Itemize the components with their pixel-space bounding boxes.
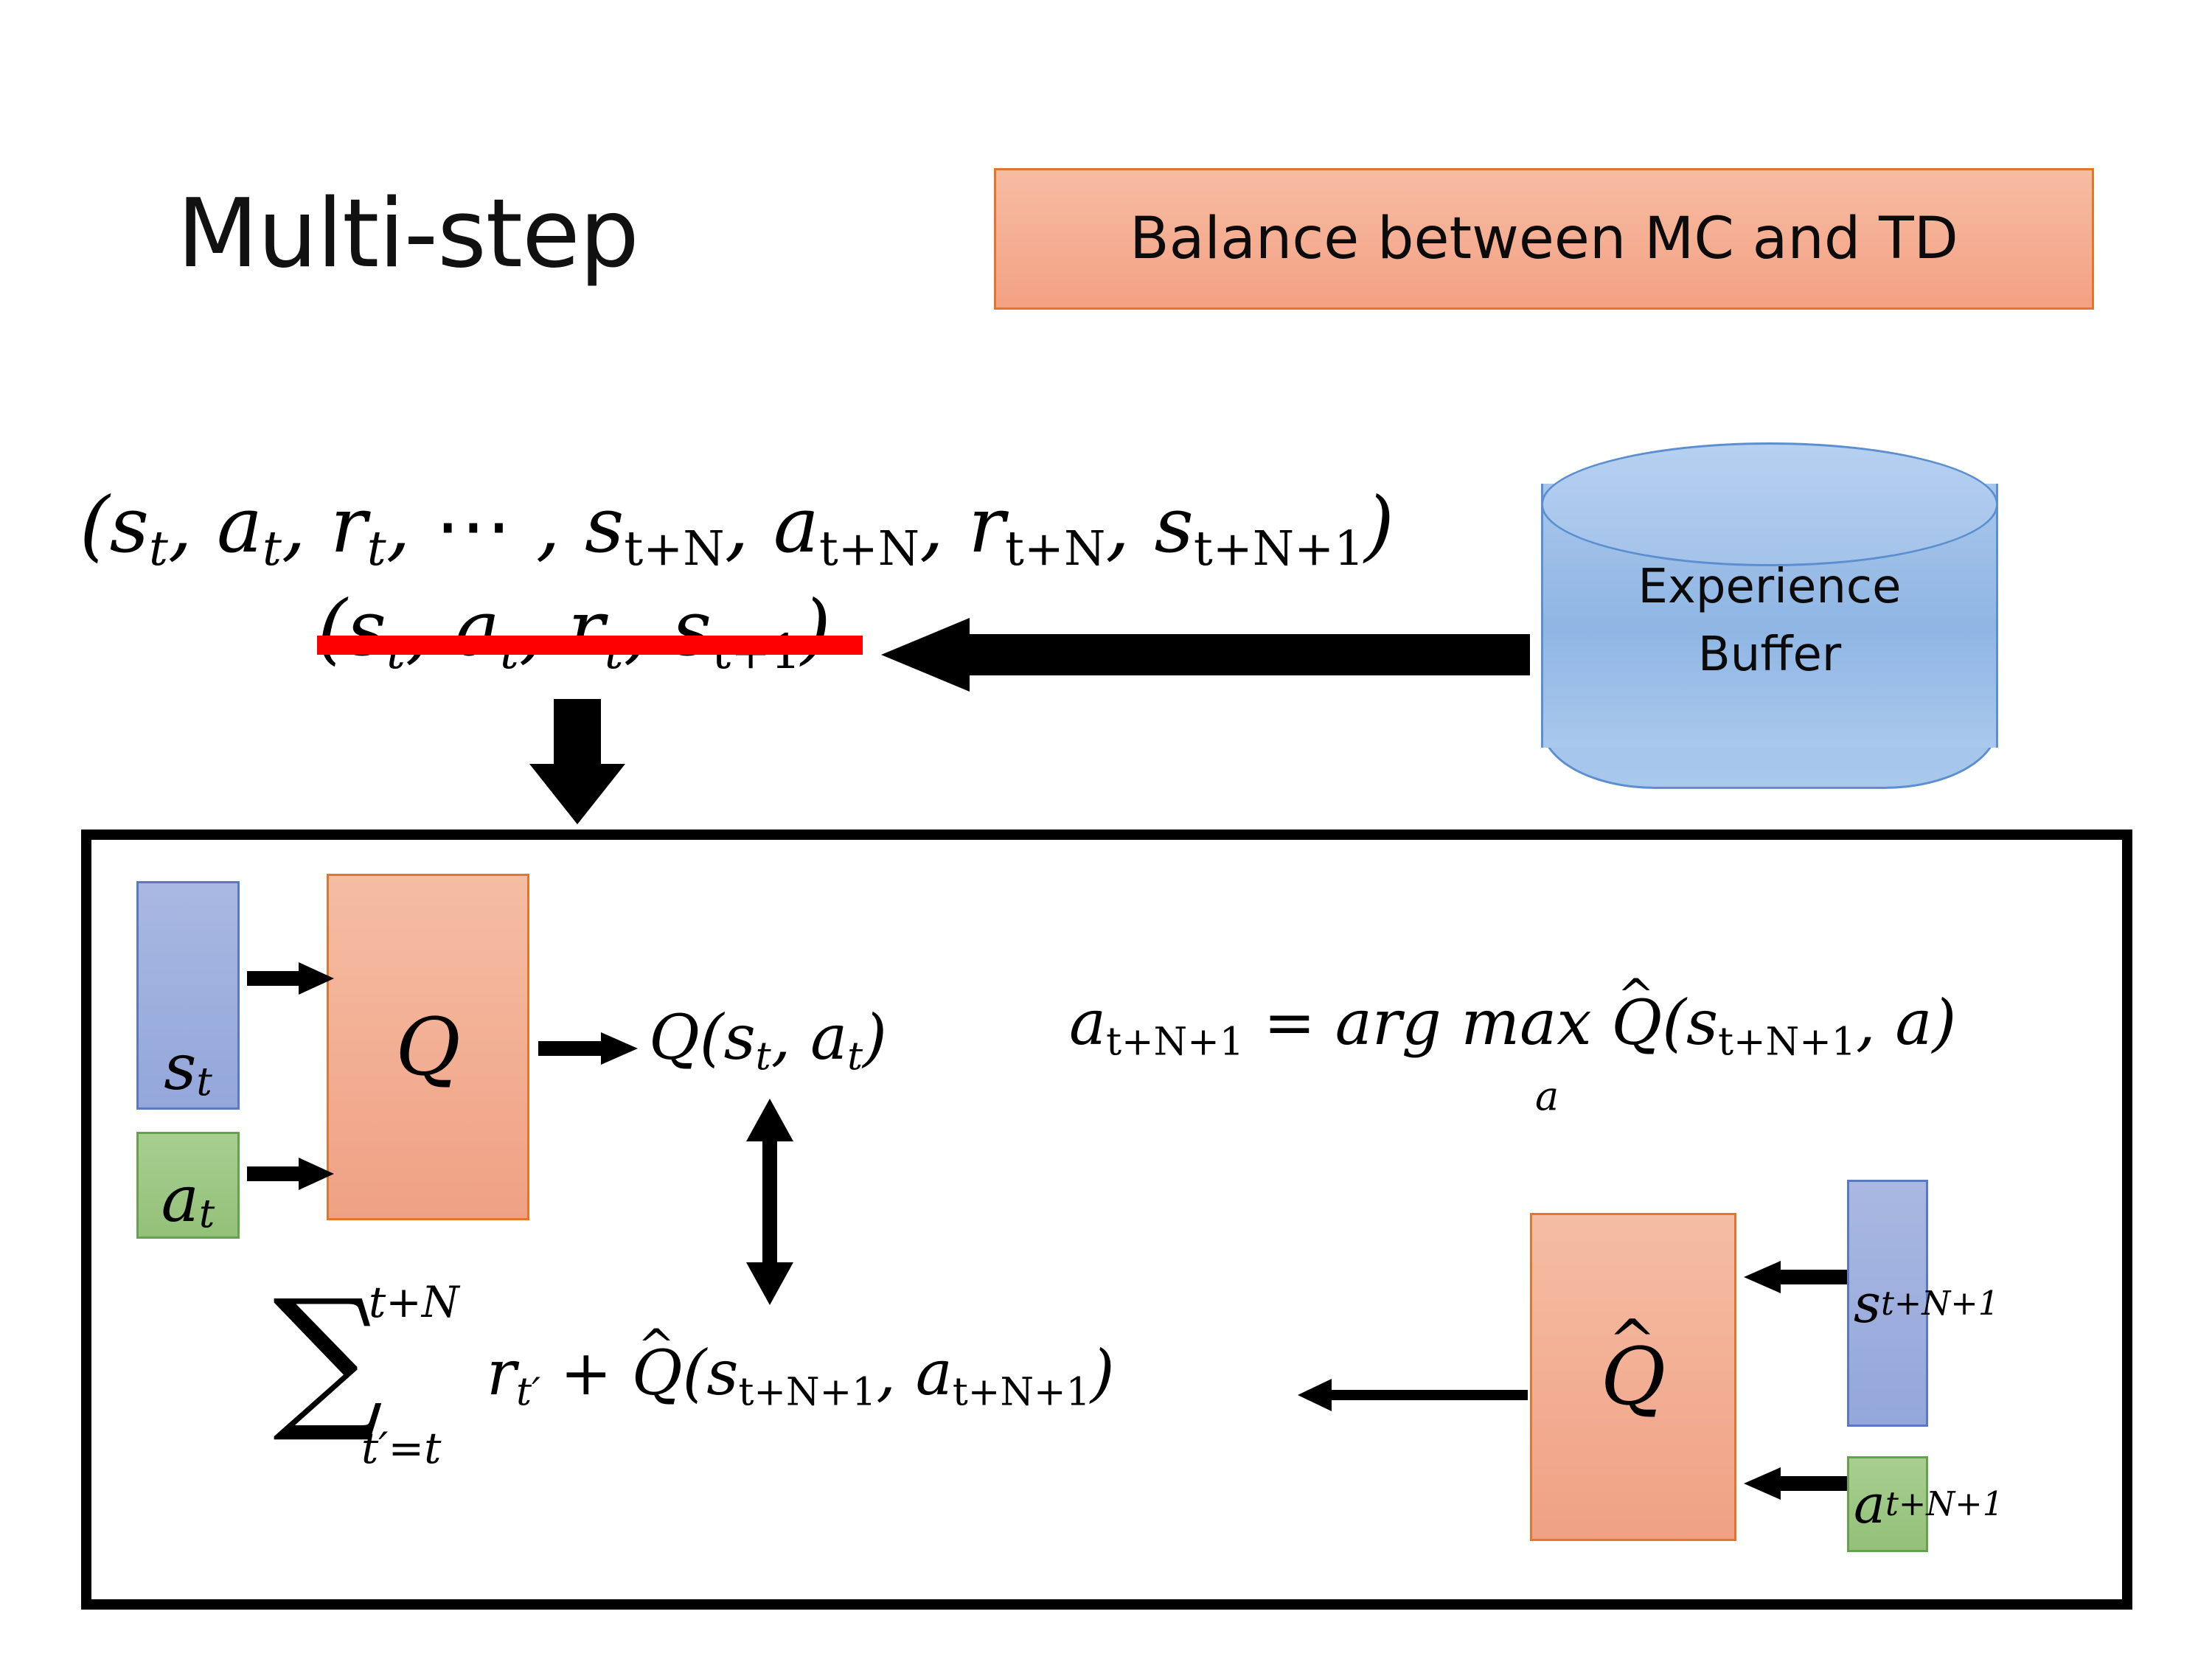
buffer-label-line2: Buffer <box>1541 621 1998 689</box>
single-step-transition-tuple-struck: (st, at, rt, st+1) <box>317 590 831 693</box>
action-to-q-arrow-icon <box>247 1158 334 1190</box>
multi-step-transition-tuple: (st, at, rt, ⋯ , st+N, at+N, rt+N, st+N+… <box>80 487 1394 574</box>
buffer-to-tuple-arrow-icon <box>881 618 1530 692</box>
page-title: Multi-step <box>177 175 811 293</box>
banner-label: Balance between MC and TD <box>996 170 2092 307</box>
next-state-to-qhat-arrow-icon <box>1744 1261 1847 1293</box>
next-action-subscript: t+N+1 <box>1885 1485 2003 1523</box>
next-state-symbol: s <box>1854 1273 1881 1335</box>
online-q-network-block: Q <box>327 874 529 1220</box>
banner-balance-mc-td: Balance between MC and TD <box>994 168 2094 310</box>
argmax-subscript-a: a <box>1535 1073 1559 1119</box>
next-state-input-label: st+N+1 <box>1849 1182 1926 1425</box>
online-q-network-label: Q <box>329 876 527 1218</box>
buffer-label-line1: Experience <box>1541 553 1998 621</box>
summation-upper-limit: t+N <box>369 1277 459 1327</box>
action-subscript: t <box>199 1191 215 1237</box>
target-q-network-label: Q^ <box>1532 1215 1734 1539</box>
tuple-to-box-down-arrow-icon <box>529 699 625 824</box>
loss-double-arrow-icon <box>746 1099 793 1305</box>
experience-buffer-cylinder: Experience Buffer <box>1541 442 1998 789</box>
state-input-block: st <box>136 881 240 1110</box>
state-to-q-arrow-icon <box>247 962 334 995</box>
next-action-to-qhat-arrow-icon <box>1744 1467 1847 1500</box>
next-state-input-block: st+N+1 <box>1847 1180 1928 1427</box>
cylinder-top-ellipse <box>1541 442 1998 566</box>
next-state-subscript: t+N+1 <box>1881 1284 1999 1323</box>
state-symbol: s <box>164 1031 196 1105</box>
next-action-input-block: at+N+1 <box>1847 1456 1928 1552</box>
q-value-output-expression: Q(st, at) <box>649 1006 887 1077</box>
target-q-network-block: Q^ <box>1530 1213 1736 1541</box>
action-symbol: a <box>161 1163 199 1237</box>
state-subscript: t <box>196 1059 212 1105</box>
red-strikethrough-line <box>317 636 863 655</box>
qhat-to-target-arrow-icon <box>1298 1379 1528 1411</box>
next-action-input-label: at+N+1 <box>1849 1458 1926 1550</box>
summation-lower-limit: t′=t <box>361 1423 441 1473</box>
td-target-expression: rt′ + Q^(st+N+1, at+N+1) <box>487 1342 1115 1412</box>
next-action-symbol: a <box>1854 1473 1885 1535</box>
action-input-label: at <box>139 1134 237 1237</box>
q-to-output-arrow-icon <box>538 1032 638 1065</box>
buffer-label: Experience Buffer <box>1541 553 1998 689</box>
state-input-label: st <box>139 883 237 1107</box>
argmax-action-equation: at+N+1 = arg max Q^(st+N+1, a) <box>1069 992 1956 1062</box>
summation-symbol: ∑ <box>273 1287 383 1426</box>
action-input-block: at <box>136 1132 240 1239</box>
